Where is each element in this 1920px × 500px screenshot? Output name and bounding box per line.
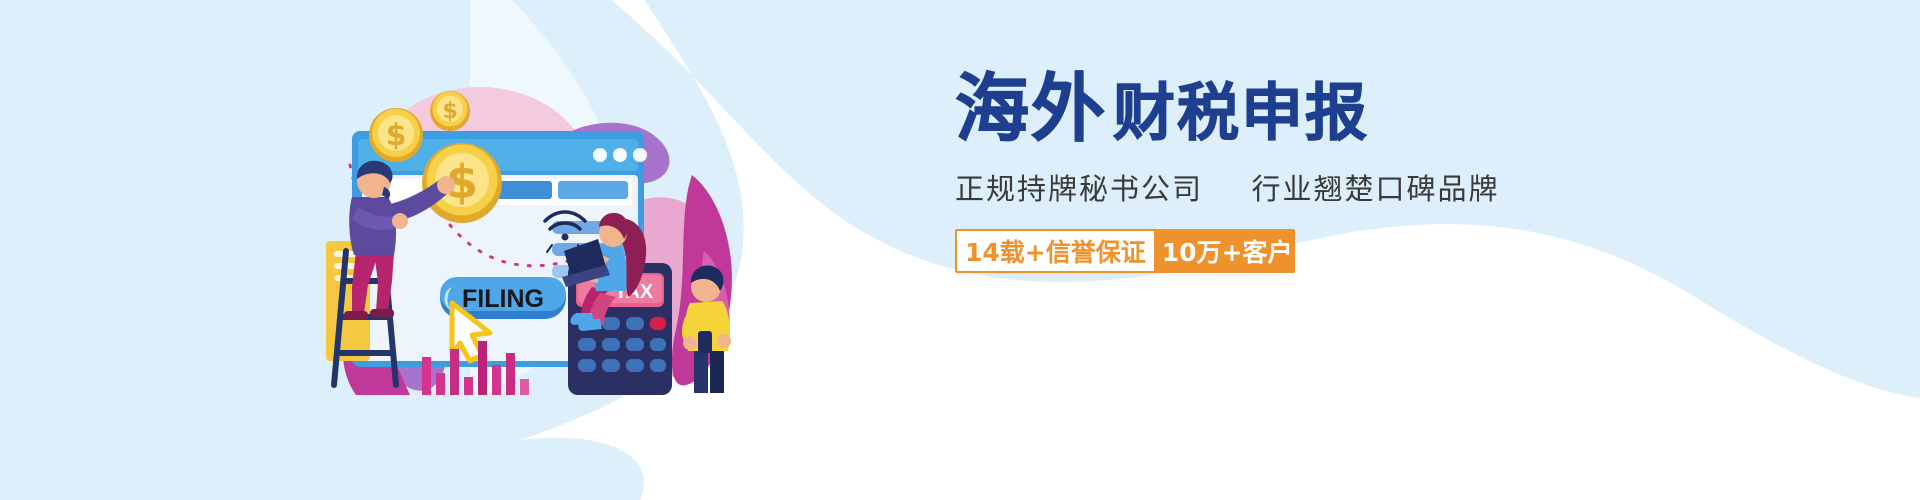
promo-banner: $ $ $ <box>0 0 1920 500</box>
subtitle-left: 正规持牌秘书公司 <box>955 172 1203 206</box>
headline-primary: 海外 <box>955 72 1107 146</box>
svg-text:$: $ <box>442 99 457 124</box>
subtitle-right: 行业翘楚口碑品牌 <box>1251 172 1499 206</box>
filing-button-label: FILING <box>462 285 544 313</box>
hero-illustration: $ $ $ <box>300 55 760 395</box>
subtitle: 正规持牌秘书公司 行业翘楚口碑品牌 <box>955 166 1515 208</box>
badge-clients: 10万+客户见证 <box>1154 231 1295 271</box>
banner-copy: 海外 财税申报 正规持牌秘书公司 行业翘楚口碑品牌 14载+信誉保证 10万+客… <box>955 72 1515 273</box>
trust-badges: 14载+信誉保证 10万+客户见证 <box>955 229 1295 273</box>
coin-small-left: $ <box>369 108 423 162</box>
page-title: 海外 财税申报 <box>955 72 1515 146</box>
headline-secondary: 财税申报 <box>1113 82 1369 144</box>
coin-small-right: $ <box>430 91 470 131</box>
badge-years: 14载+信誉保证 <box>957 231 1154 271</box>
svg-text:$: $ <box>386 118 407 153</box>
coin-large: $ <box>422 143 502 223</box>
